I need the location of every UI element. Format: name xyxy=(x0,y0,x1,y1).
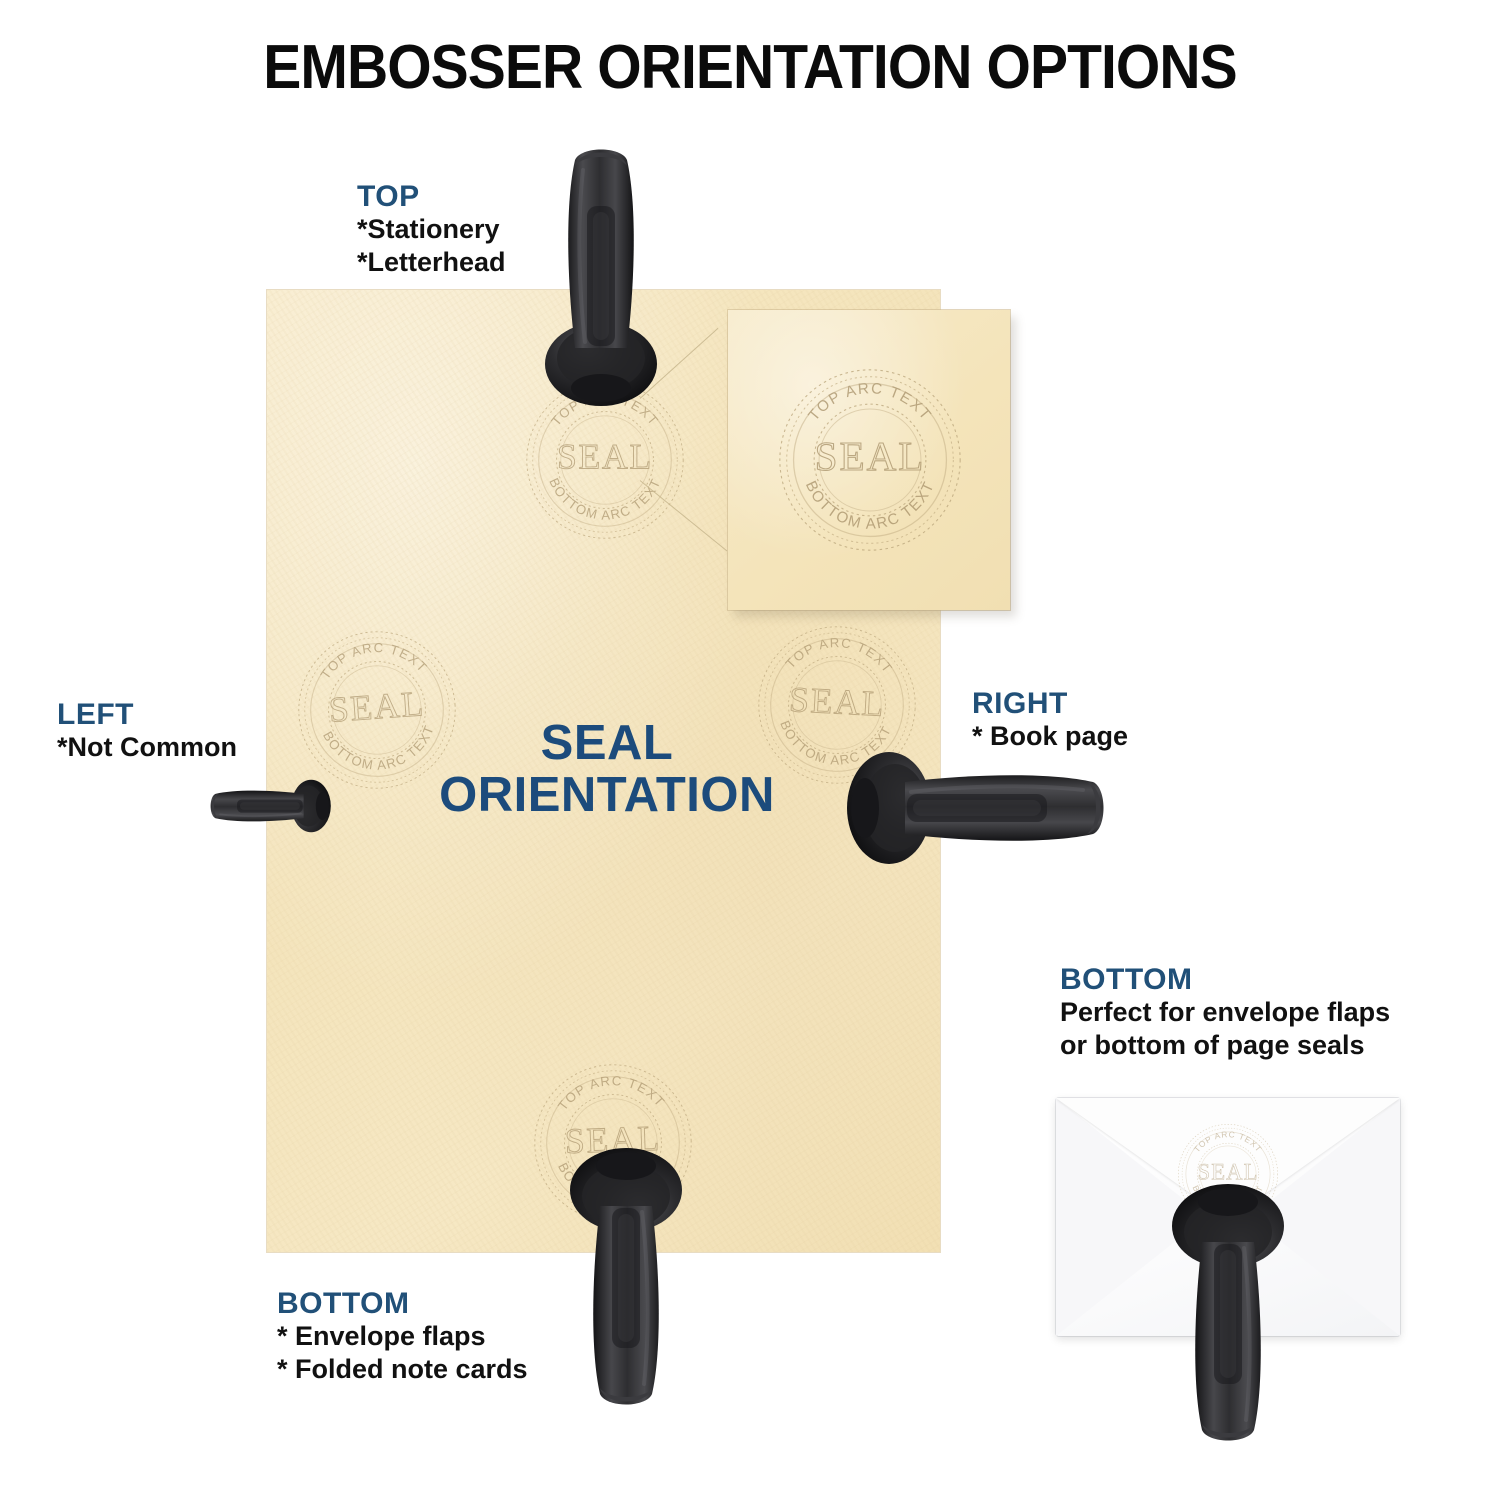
embosser-tool-icon-left xyxy=(80,746,336,866)
label-bottom-page-line-2: * Folded note cards xyxy=(277,1353,528,1386)
label-top-heading: TOP xyxy=(357,180,506,213)
embossed-seal-icon-magnified xyxy=(772,362,968,558)
wordmark-line-2: ORIENTATION xyxy=(367,770,847,822)
label-right-heading: RIGHT xyxy=(972,687,1128,720)
label-bottom-envelope-heading: BOTTOM xyxy=(1060,963,1390,996)
magnifier-callout-icon xyxy=(728,310,1010,610)
label-left: LEFT *Not Common xyxy=(57,698,237,764)
embosser-tool-icon-envelope xyxy=(1168,1160,1288,1460)
page-title: EMBOSSER ORIENTATION OPTIONS xyxy=(60,32,1440,103)
label-top-line-1: *Stationery xyxy=(357,213,506,246)
label-bottom-envelope-line-1: Perfect for envelope flaps xyxy=(1060,996,1390,1029)
label-bottom-envelope-line-2: or bottom of page seals xyxy=(1060,1029,1390,1062)
embosser-tool-icon-right xyxy=(845,748,1101,868)
label-bottom-page-line-1: * Envelope flaps xyxy=(277,1320,528,1353)
embosser-tool-icon-top xyxy=(541,152,661,408)
label-left-line-1: *Not Common xyxy=(57,731,237,764)
label-right-line-1: * Book page xyxy=(972,720,1128,753)
wordmark-line-1: SEAL xyxy=(367,718,847,770)
label-top-line-2: *Letterhead xyxy=(357,246,506,279)
diagram-stage: EMBOSSER ORIENTATION OPTIONS SEAL ORIENT… xyxy=(0,0,1500,1500)
label-bottom-envelope: BOTTOM Perfect for envelope flaps or bot… xyxy=(1060,963,1390,1062)
label-bottom-page-heading: BOTTOM xyxy=(277,1287,528,1320)
seal-orientation-wordmark: SEAL ORIENTATION xyxy=(367,718,847,822)
label-right: RIGHT * Book page xyxy=(972,687,1128,753)
label-top: TOP *Stationery *Letterhead xyxy=(357,180,506,279)
label-left-heading: LEFT xyxy=(57,698,237,731)
embosser-tool-icon-bottom xyxy=(566,1146,686,1402)
label-bottom-page: BOTTOM * Envelope flaps * Folded note ca… xyxy=(277,1287,528,1386)
